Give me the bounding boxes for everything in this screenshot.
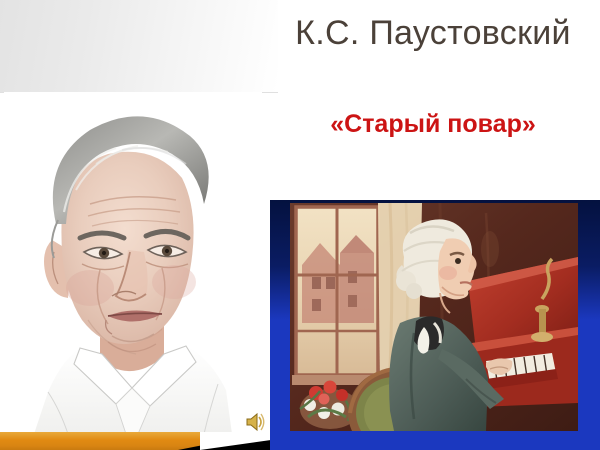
- story-title: «Старый повар»: [272, 110, 594, 139]
- speaker-icon-glyph: [243, 411, 267, 433]
- presentation-slide: К.С. Паустовский «Старый повар»: [0, 0, 600, 450]
- speaker-icon[interactable]: [243, 411, 267, 433]
- page-title: К.С. Паустовский: [272, 14, 594, 53]
- decorative-gray-panel: [0, 0, 278, 93]
- author-portrait-graphic: [4, 92, 262, 434]
- story-illustration: [290, 203, 578, 431]
- author-portrait: [4, 92, 262, 434]
- story-illustration-frame: [270, 200, 600, 450]
- story-illustration-graphic: [290, 203, 578, 431]
